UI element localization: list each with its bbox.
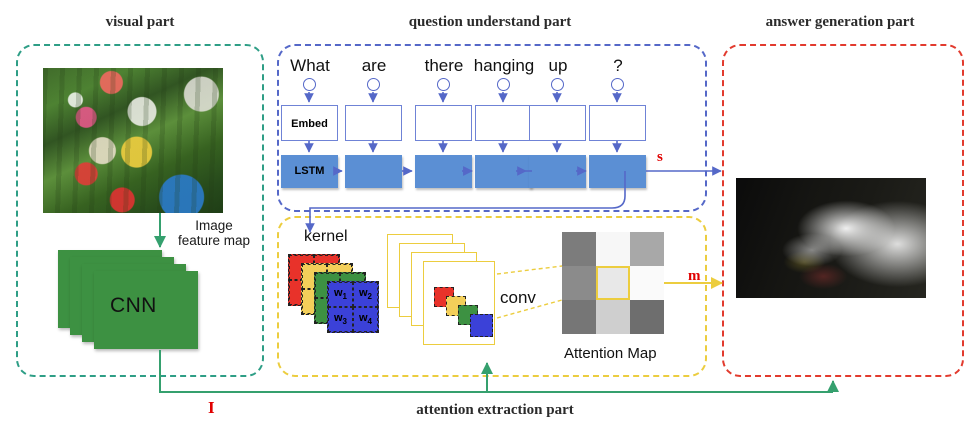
- attention-vector-marker: m: [688, 268, 701, 285]
- attention-cell-1-0: [562, 266, 596, 300]
- attention-part-title: attention extraction part: [330, 402, 660, 419]
- word-node-2: [437, 78, 450, 91]
- attention-cell-0-2: [630, 232, 664, 266]
- attention-cell-2-0: [562, 300, 596, 334]
- embed-box-2: [415, 105, 472, 141]
- lstm-box-4: [529, 155, 586, 188]
- word-node-1: [367, 78, 380, 91]
- attention-cell-1-2: [630, 266, 664, 300]
- attention-map-label: Attention Map: [564, 345, 657, 362]
- answer-description: Answer Generation based on Attention Wei…: [722, 263, 971, 347]
- attention-cell-0-0: [562, 232, 596, 266]
- lstm-box-5: [589, 155, 646, 188]
- question-part-title: question understand part: [280, 14, 700, 31]
- answer-part-title: answer generation part: [715, 14, 965, 31]
- lstm-box-1: [345, 155, 402, 188]
- input-image-content: [43, 68, 223, 213]
- attention-cell-2-2: [630, 300, 664, 334]
- attention-cell-2-1: [596, 300, 630, 334]
- lstm-label: LSTM: [281, 155, 338, 188]
- embed-box-4: [529, 105, 586, 141]
- embed-box-5: [589, 105, 646, 141]
- kernel-weight-3: w4: [353, 307, 378, 332]
- question-word-5: ?: [598, 56, 638, 76]
- image-feature-map-label: Image feature map: [168, 218, 260, 248]
- kernel-weight-2: w3: [328, 307, 353, 332]
- embed-box-1: [345, 105, 402, 141]
- question-word-3: hanging: [461, 56, 547, 76]
- lstm-box-2: [415, 155, 472, 188]
- cnn-label: CNN: [110, 294, 214, 318]
- embed-box-0: Embed: [281, 105, 338, 141]
- answer-word: Umbrellas: [722, 230, 971, 250]
- lstm-box-3: [475, 155, 532, 188]
- image-feature-marker: I: [208, 398, 215, 418]
- question-word-0: What: [282, 56, 338, 76]
- conv-cube-blue: [470, 314, 493, 337]
- embed-label: Embed: [282, 106, 337, 142]
- word-node-4: [551, 78, 564, 91]
- word-node-5: [611, 78, 624, 91]
- conv-label: conv: [500, 288, 536, 308]
- cnn-block: CNN: [58, 250, 208, 360]
- word-node-0: [303, 78, 316, 91]
- embed-box-3: [475, 105, 532, 141]
- question-word-4: up: [536, 56, 580, 76]
- question-word-1: are: [350, 56, 398, 76]
- attention-map-highlight: [596, 266, 630, 300]
- sentence-vector-marker: s: [657, 149, 663, 166]
- kernel-label: kernel: [304, 228, 348, 246]
- visual-part-title: visual part: [15, 14, 265, 31]
- word-node-3: [497, 78, 510, 91]
- kernel-weight-1: w2: [353, 282, 378, 307]
- input-image: [43, 68, 223, 213]
- attention-cell-0-1: [596, 232, 630, 266]
- kernel-layer-blue: w1 w2 w3 w4: [327, 281, 379, 333]
- kernel-weight-0: w1: [328, 282, 353, 307]
- lstm-box-0: LSTM: [281, 155, 338, 188]
